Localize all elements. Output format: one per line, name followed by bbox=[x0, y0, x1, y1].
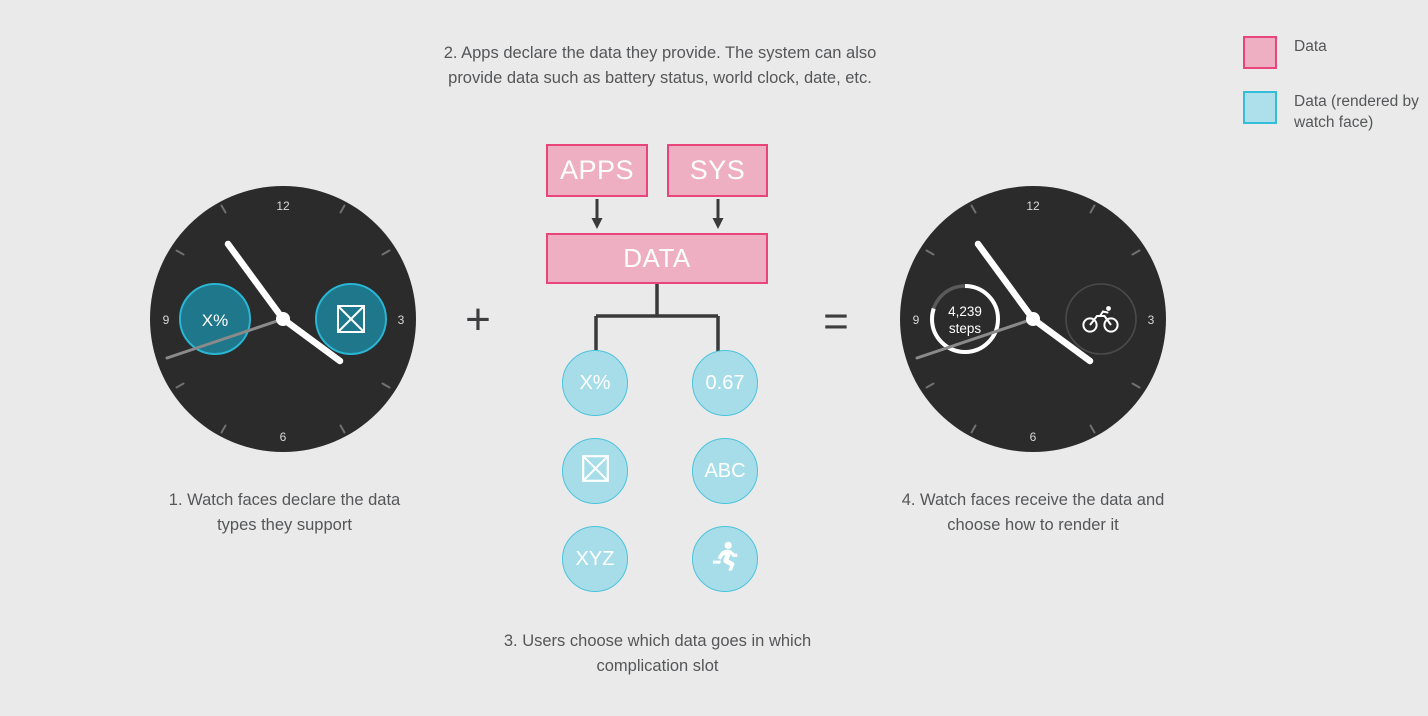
bubble-number[interactable]: 0.67 bbox=[692, 350, 758, 416]
plus-operator: + bbox=[460, 298, 496, 342]
hand-hub bbox=[276, 312, 290, 326]
numeral-12: 12 bbox=[276, 199, 290, 213]
steps-unit: steps bbox=[949, 321, 982, 336]
bubble-shorttext[interactable]: XYZ bbox=[562, 526, 628, 592]
step-4-caption: 4. Watch faces receive the data and choo… bbox=[888, 488, 1178, 538]
legend: Data Data (rendered by watch face) bbox=[1243, 36, 1423, 155]
numeral-3: 3 bbox=[398, 313, 405, 327]
numeral-3: 3 bbox=[1148, 313, 1155, 327]
cyan-swatch bbox=[1243, 91, 1277, 124]
numeral-6: 6 bbox=[280, 430, 287, 444]
bubble-label: X% bbox=[579, 372, 610, 395]
sys-box: SYS bbox=[667, 144, 768, 197]
numeral-12: 12 bbox=[1026, 199, 1040, 213]
pink-swatch bbox=[1243, 36, 1277, 69]
apps-box: APPS bbox=[546, 144, 648, 197]
numeral-6: 6 bbox=[1030, 430, 1037, 444]
image-placeholder-icon bbox=[582, 455, 609, 488]
complication-bubbles: X% 0.67 ABC XYZ bbox=[562, 350, 758, 614]
step-3-caption: 3. Users choose which data goes in which… bbox=[495, 629, 820, 679]
legend-item-data: Data bbox=[1243, 36, 1423, 69]
equals-operator: = bbox=[818, 300, 854, 344]
apps-to-data-arrow-icon bbox=[590, 199, 604, 229]
watch-face-declaring[interactable]: 12 3 6 9 X% bbox=[150, 186, 416, 452]
bubble-text[interactable]: ABC bbox=[692, 438, 758, 504]
bubble-image[interactable] bbox=[562, 438, 628, 504]
complication-left-label: X% bbox=[202, 311, 228, 330]
steps-value: 4,239 bbox=[948, 304, 982, 319]
bubble-percent[interactable]: X% bbox=[562, 350, 628, 416]
bubble-row: X% 0.67 bbox=[562, 350, 758, 416]
bubble-row: ABC bbox=[562, 438, 758, 504]
bubble-row: XYZ bbox=[562, 526, 758, 592]
bubble-label: ABC bbox=[704, 460, 745, 483]
numeral-9: 9 bbox=[163, 313, 170, 327]
hand-hub bbox=[1026, 312, 1040, 326]
complication-right bbox=[316, 284, 386, 354]
legend-label-data-rendered: Data (rendered by watch face) bbox=[1294, 91, 1423, 133]
legend-item-data-rendered: Data (rendered by watch face) bbox=[1243, 91, 1423, 133]
running-person-icon bbox=[712, 541, 738, 577]
sys-to-data-arrow-icon bbox=[711, 199, 725, 229]
legend-label-data: Data bbox=[1294, 36, 1327, 57]
bubble-activity[interactable] bbox=[692, 526, 758, 592]
complication-left: X% bbox=[180, 284, 250, 354]
data-box: DATA bbox=[546, 233, 768, 284]
step-1-caption: 1. Watch faces declare the data types th… bbox=[158, 488, 411, 538]
bubble-label: 0.67 bbox=[706, 372, 745, 395]
bubble-label: XYZ bbox=[576, 548, 615, 571]
numeral-9: 9 bbox=[913, 313, 920, 327]
watch-face-rendered[interactable]: 12 3 6 9 4,239 steps bbox=[900, 186, 1166, 452]
step-2-caption: 2. Apps declare the data they provide. T… bbox=[440, 41, 880, 91]
